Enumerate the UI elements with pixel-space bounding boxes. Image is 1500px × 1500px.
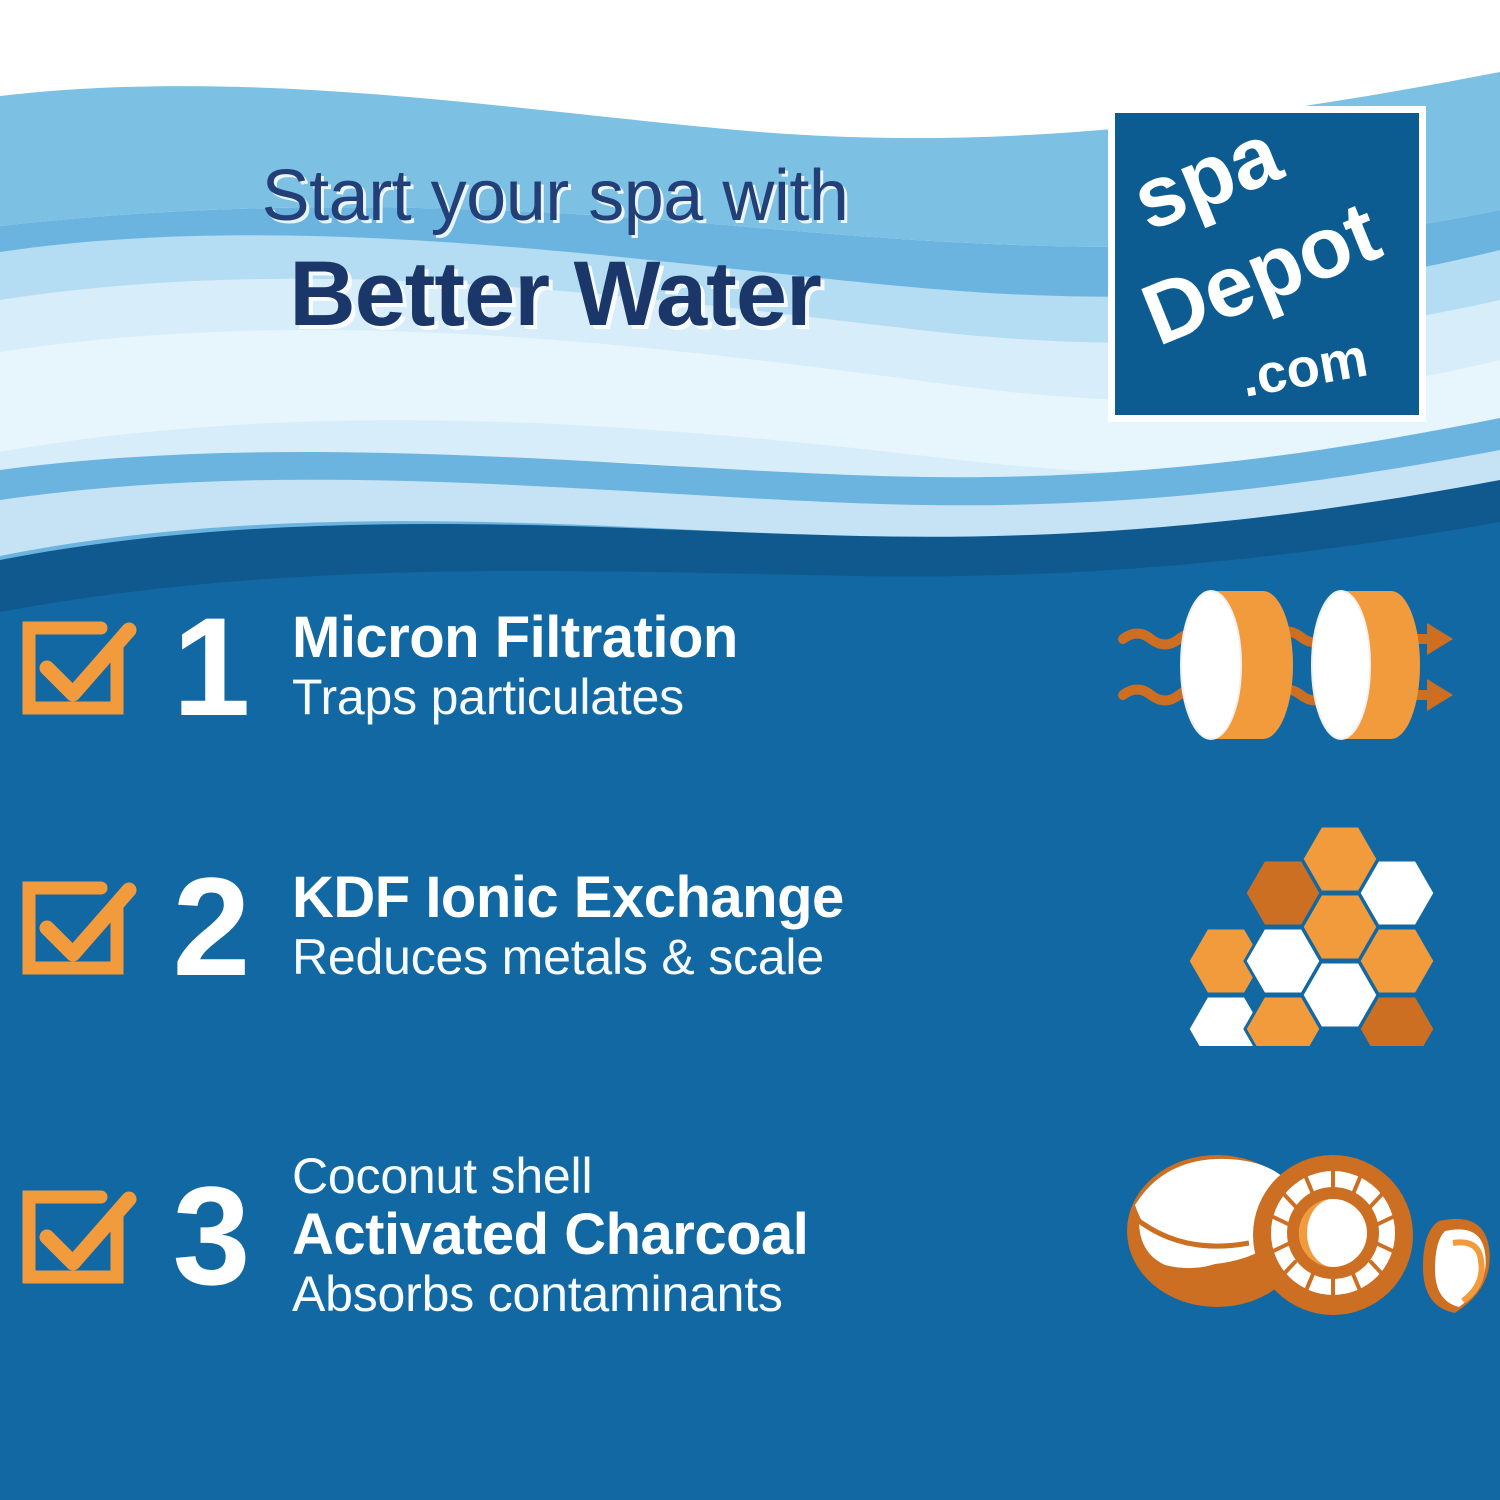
feature-pretitle-3: Coconut shell — [292, 1148, 1100, 1204]
feature-art-1 — [1100, 571, 1500, 761]
coconut-slice — [1423, 1219, 1490, 1313]
feature-text-1: Micron Filtration Traps particulates — [270, 607, 1100, 724]
feature-number-3: 3 — [150, 1176, 270, 1295]
checkbox-checked-icon — [13, 1173, 137, 1297]
infographic-poster: spa Depot .com Start your spa with Bette… — [0, 0, 1500, 1500]
feature-row-2: 2 KDF Ionic Exchange Reduces metals & sc… — [0, 826, 1500, 1026]
checkbox-cell-1 — [0, 604, 150, 728]
feature-title-3: Activated Charcoal — [292, 1204, 1100, 1265]
filter-disc-2 — [1312, 591, 1420, 739]
spadepot-logo-art: spa Depot .com — [1115, 113, 1419, 415]
feature-subtitle-2: Reduces metals & scale — [292, 929, 1100, 985]
feature-subtitle-1: Traps particulates — [292, 669, 1100, 725]
honeycomb-hexagons-icon — [1155, 806, 1445, 1046]
feature-row-1: 1 Micron Filtration Traps particulates — [0, 566, 1500, 766]
feature-number-1: 1 — [150, 607, 270, 726]
feature-text-3: Coconut shell Activated Charcoal Absorbs… — [270, 1148, 1100, 1321]
feature-row-3: 3 Coconut shell Activated Charcoal Absor… — [0, 1110, 1500, 1360]
feature-title-1: Micron Filtration — [292, 607, 1100, 668]
filter-discs-icon — [1115, 571, 1485, 761]
coconut-open — [1253, 1155, 1413, 1315]
checkbox-checked-icon — [13, 604, 137, 728]
feature-number-2: 2 — [150, 867, 270, 986]
checkbox-checked-icon — [13, 864, 137, 988]
checkbox-cell-3 — [0, 1173, 150, 1297]
page-title: Start your spa with Better Water — [60, 160, 1050, 340]
spadepot-logo[interactable]: spa Depot .com — [1108, 106, 1426, 422]
feature-subtitle-3: Absorbs contaminants — [292, 1266, 1100, 1322]
coconut-icon — [1105, 1135, 1495, 1335]
headline-line-1: Start your spa with — [60, 160, 1050, 232]
feature-title-2: KDF Ionic Exchange — [292, 867, 1100, 928]
filter-disc-1 — [1181, 591, 1293, 739]
checkbox-cell-2 — [0, 864, 150, 988]
feature-art-2 — [1100, 806, 1500, 1046]
feature-text-2: KDF Ionic Exchange Reduces metals & scal… — [270, 867, 1100, 984]
feature-art-3 — [1100, 1135, 1500, 1335]
headline-line-2: Better Water — [60, 248, 1050, 340]
